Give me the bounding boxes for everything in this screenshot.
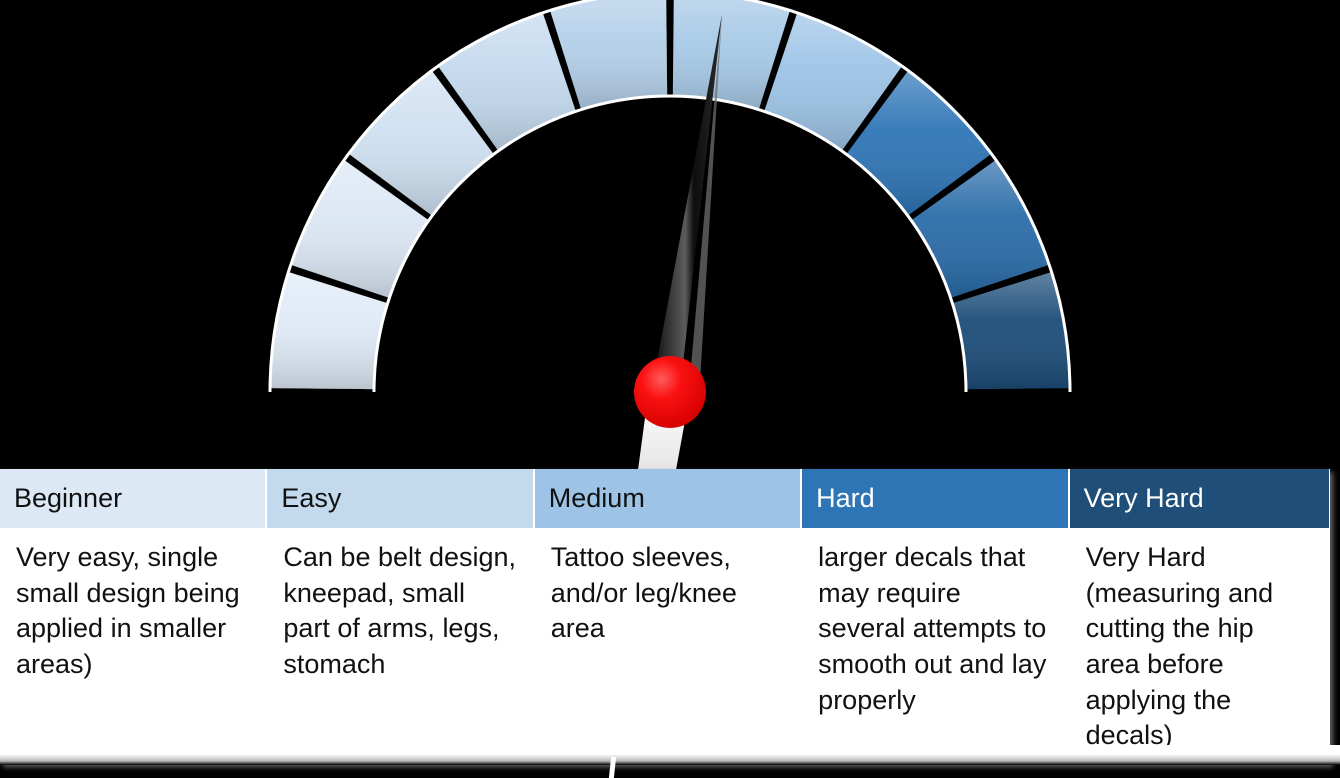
table-body-cell-medium: Tattoo sleeves, and/or leg/knee area <box>535 528 802 764</box>
table-header-label: Beginner <box>14 485 122 512</box>
table-header-label: Medium <box>549 485 645 512</box>
table-body-text: Very easy, single small design being app… <box>16 542 240 679</box>
table-body-cell-beginner: Very easy, single small design being app… <box>0 528 267 764</box>
slide-bottom-edge <box>0 745 1340 765</box>
difficulty-levels-table: BeginnerEasyMediumHardVery Hard Very eas… <box>0 469 1330 764</box>
table-body-text: Can be belt design, kneepad, small part … <box>283 542 516 679</box>
table-header-cell-easy[interactable]: Easy <box>267 469 534 528</box>
table-header-cell-beginner[interactable]: Beginner <box>0 469 267 528</box>
table-body-cell-very-hard: Very Hard (measuring and cutting the hip… <box>1070 528 1329 764</box>
table-body-row: Very easy, single small design being app… <box>0 528 1330 764</box>
table-body-text: Very Hard (measuring and cutting the hip… <box>1086 542 1274 750</box>
table-body-text: Tattoo sleeves, and/or leg/knee area <box>551 542 737 643</box>
table-header-row: BeginnerEasyMediumHardVery Hard <box>0 469 1330 528</box>
table-header-label: Hard <box>816 485 875 512</box>
gauge-svg <box>0 0 1340 470</box>
table-header-label: Easy <box>281 485 341 512</box>
gauge-needle-hub[interactable] <box>634 356 706 428</box>
needle-tip-artifact <box>609 757 616 778</box>
table-body-text: larger decals that may require several a… <box>818 542 1046 715</box>
table-body-cell-hard: larger decals that may require several a… <box>802 528 1069 764</box>
table-header-cell-medium[interactable]: Medium <box>535 469 802 528</box>
table-body-cell-easy: Can be belt design, kneepad, small part … <box>267 528 534 764</box>
gauge-chart <box>0 0 1340 470</box>
table-header-label: Very Hard <box>1084 485 1204 512</box>
table-header-cell-hard[interactable]: Hard <box>802 469 1069 528</box>
table-header-cell-very-hard[interactable]: Very Hard <box>1070 469 1329 528</box>
slide-canvas: BeginnerEasyMediumHardVery Hard Very eas… <box>0 0 1340 778</box>
